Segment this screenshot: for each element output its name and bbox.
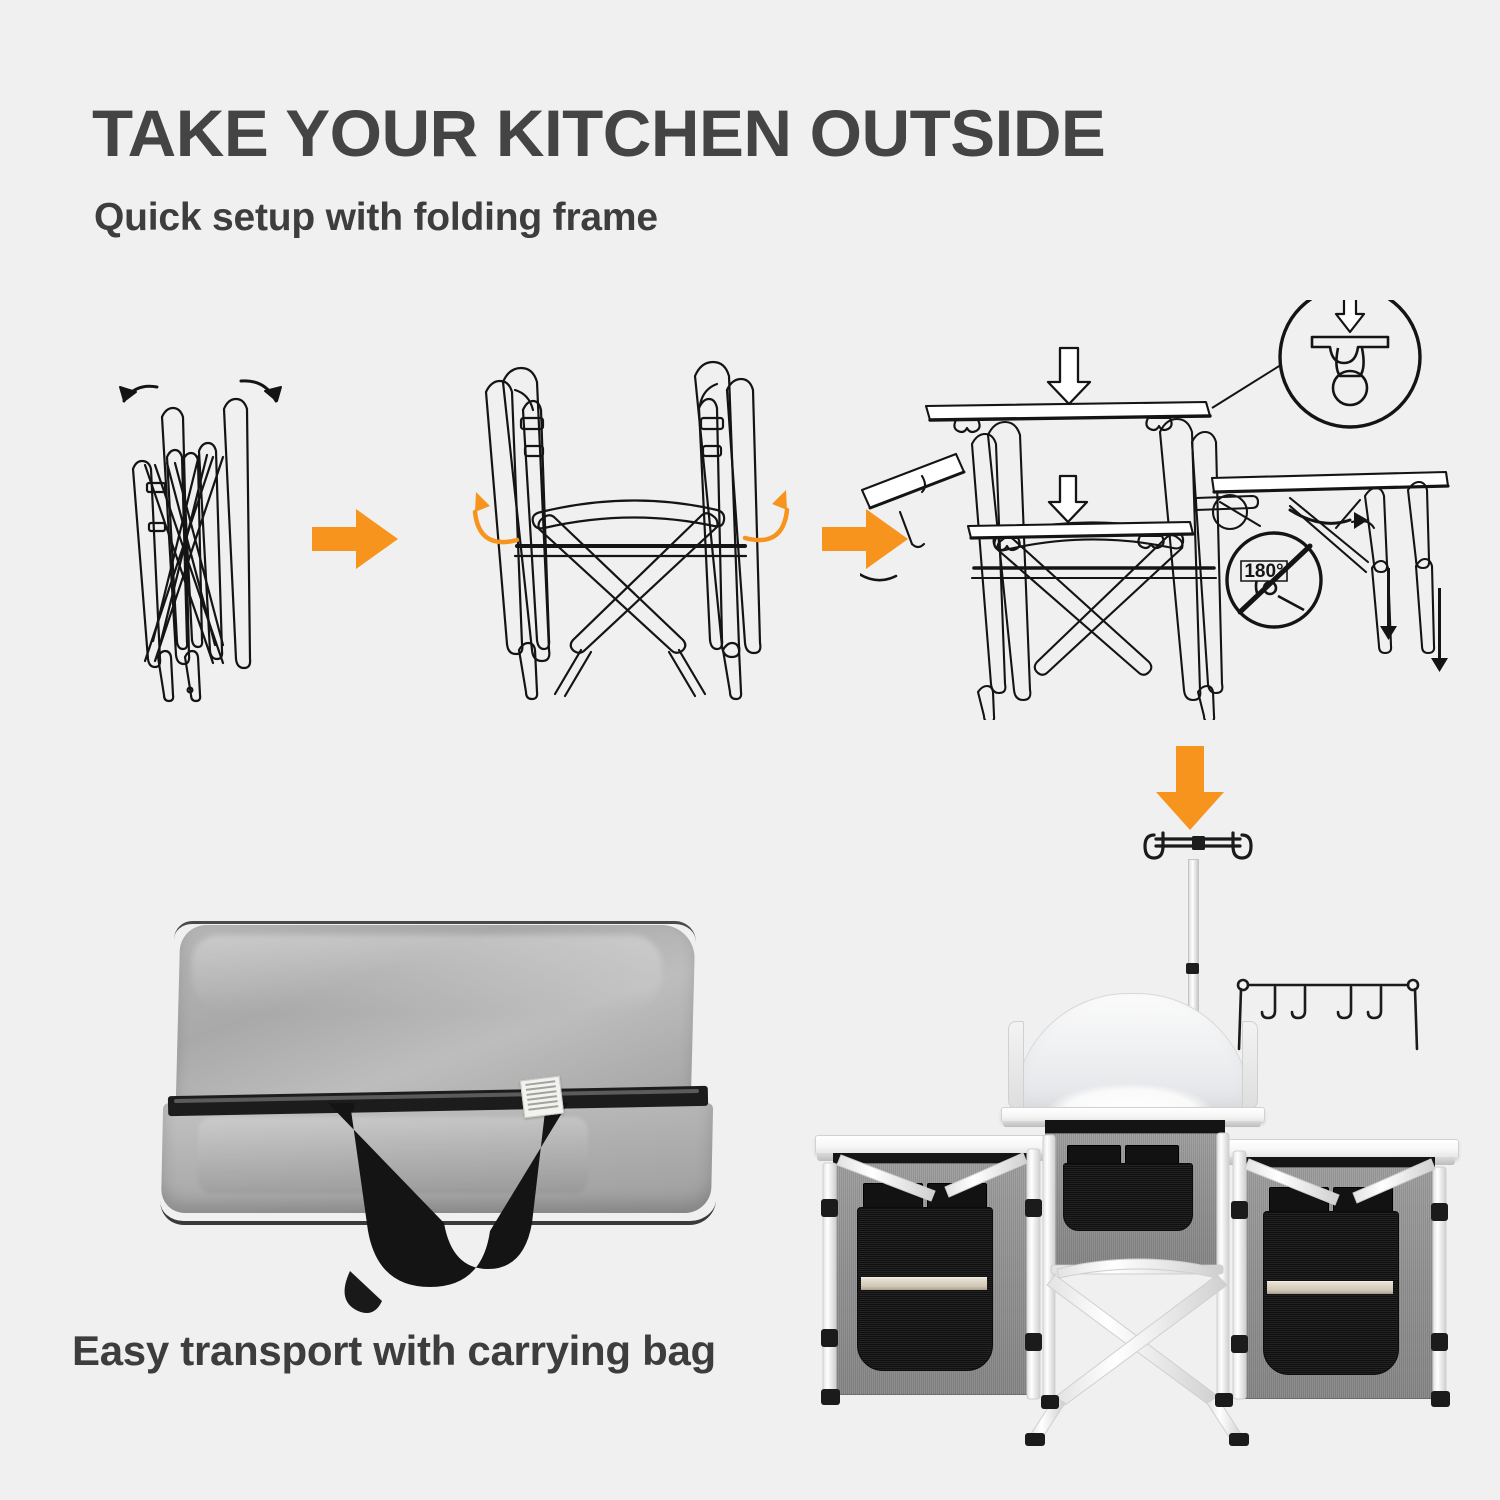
unfold-arrowhead-left [475, 492, 490, 512]
push-down-arrow-middle [1049, 476, 1087, 522]
infographic-page: TAKE YOUR KITCHEN OUTSIDE Quick setup wi… [0, 0, 1500, 1500]
arrow-right-step1-step2 [308, 503, 403, 575]
no-180-callout: 180° [1227, 533, 1321, 627]
hook-1 [1262, 987, 1275, 1018]
bag-top-seam [174, 921, 696, 942]
bag-highlight [192, 935, 662, 1015]
care-label [520, 1076, 564, 1119]
hanger-center-bracket [1192, 836, 1205, 850]
aluminum-frame [805, 1105, 1465, 1450]
assembled-product-image [805, 815, 1465, 1465]
bag-handles [290, 1103, 580, 1328]
leg-down-arrow-1 [1380, 568, 1397, 640]
pole-lock-clamp [1186, 963, 1199, 974]
step-3-assembly-illustration: 180° [860, 300, 1450, 720]
carry-bag-caption: Easy transport with carrying bag [72, 1327, 716, 1375]
carrying-bag-image [150, 895, 725, 1325]
windscreen-right-wing [1242, 1021, 1258, 1109]
clip-detail-callout [1212, 300, 1420, 427]
hook-2 [1292, 987, 1305, 1018]
utensil-hook-rail [1233, 975, 1423, 1055]
lantern-hanger-crossbar [1140, 825, 1256, 871]
push-down-arrow-top [1048, 348, 1090, 404]
hook-3 [1338, 987, 1351, 1018]
page-subtitle: Quick setup with folding frame [94, 196, 658, 240]
page-title: TAKE YOUR KITCHEN OUTSIDE [92, 100, 1459, 167]
unfold-arrowhead-right [772, 490, 787, 510]
step-2-unfolding-frame-illustration [455, 350, 835, 710]
rotate-arrowhead [1354, 512, 1368, 529]
windscreen-left-wing [1008, 1021, 1024, 1109]
hook-4 [1368, 987, 1381, 1018]
